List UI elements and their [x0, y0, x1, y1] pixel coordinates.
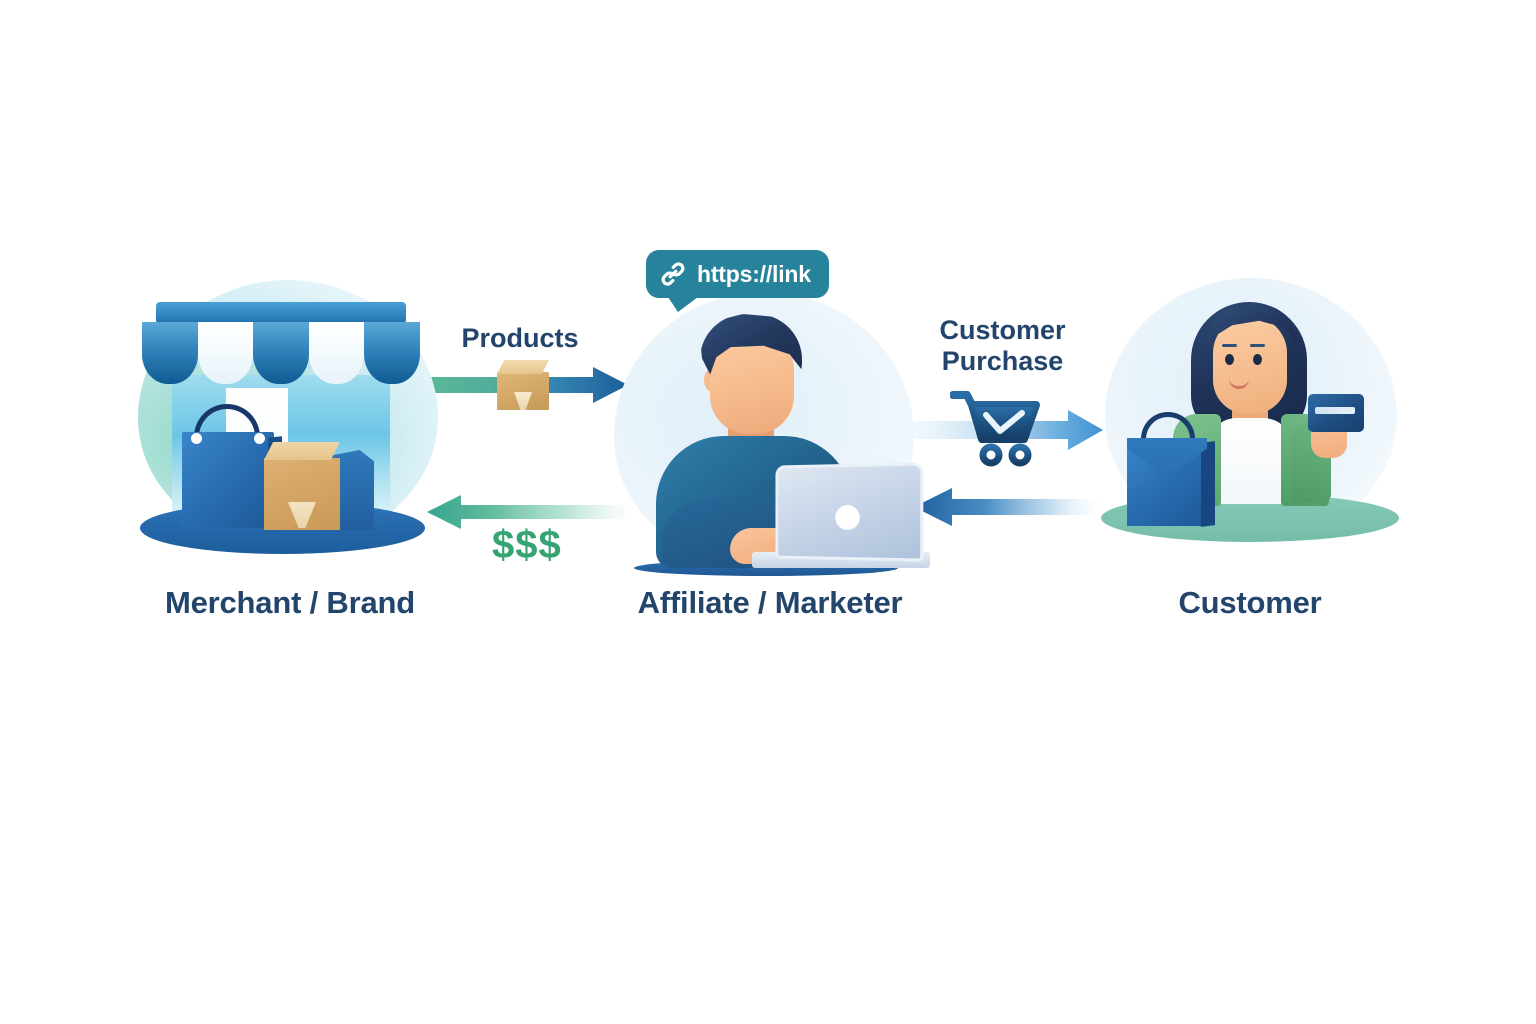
laptop-icon: [775, 462, 923, 561]
store-awning-icon: [142, 322, 420, 384]
shopping-cart-icon: [950, 387, 1044, 467]
shopping-bag-icon: [182, 432, 274, 528]
affiliate-link-text: https://link: [697, 263, 811, 286]
parcel-box-icon: [497, 360, 549, 410]
customer-bag-side: [1201, 441, 1215, 527]
customer-eye-left: [1225, 354, 1234, 365]
node-customer[interactable]: Customer: [1095, 272, 1405, 560]
flow-label-commission: $$$: [492, 523, 562, 568]
node-label-customer: Customer: [1095, 585, 1405, 621]
flow-label-line1: Customer: [939, 315, 1065, 345]
customer-eyebrow-right: [1250, 344, 1265, 347]
affiliate-link-badge[interactable]: https://link: [646, 250, 829, 298]
bag-knob-left: [191, 433, 202, 444]
bag-knob-right: [254, 433, 265, 444]
carton-box-lid: [264, 442, 340, 460]
node-label-affiliate: Affiliate / Marketer: [600, 585, 940, 621]
flow-label-products: Products: [440, 323, 600, 354]
node-merchant[interactable]: Merchant / Brand: [130, 270, 450, 560]
customer-eye-right: [1253, 354, 1262, 365]
chain-link-icon: [660, 261, 686, 287]
diagram-canvas: Products $$$: [0, 0, 1536, 1024]
node-affiliate[interactable]: https://link Affiliate / Marketer: [600, 240, 940, 570]
node-label-merchant: Merchant / Brand: [130, 585, 450, 621]
customer-eyebrow-left: [1222, 344, 1237, 347]
customer-face: [1213, 316, 1287, 414]
credit-card-stripe: [1315, 407, 1355, 414]
laptop-logo: [835, 505, 860, 530]
store-signboard: [156, 302, 406, 324]
credit-card-icon: [1308, 394, 1364, 432]
flow-label-line2: Purchase: [942, 346, 1064, 376]
